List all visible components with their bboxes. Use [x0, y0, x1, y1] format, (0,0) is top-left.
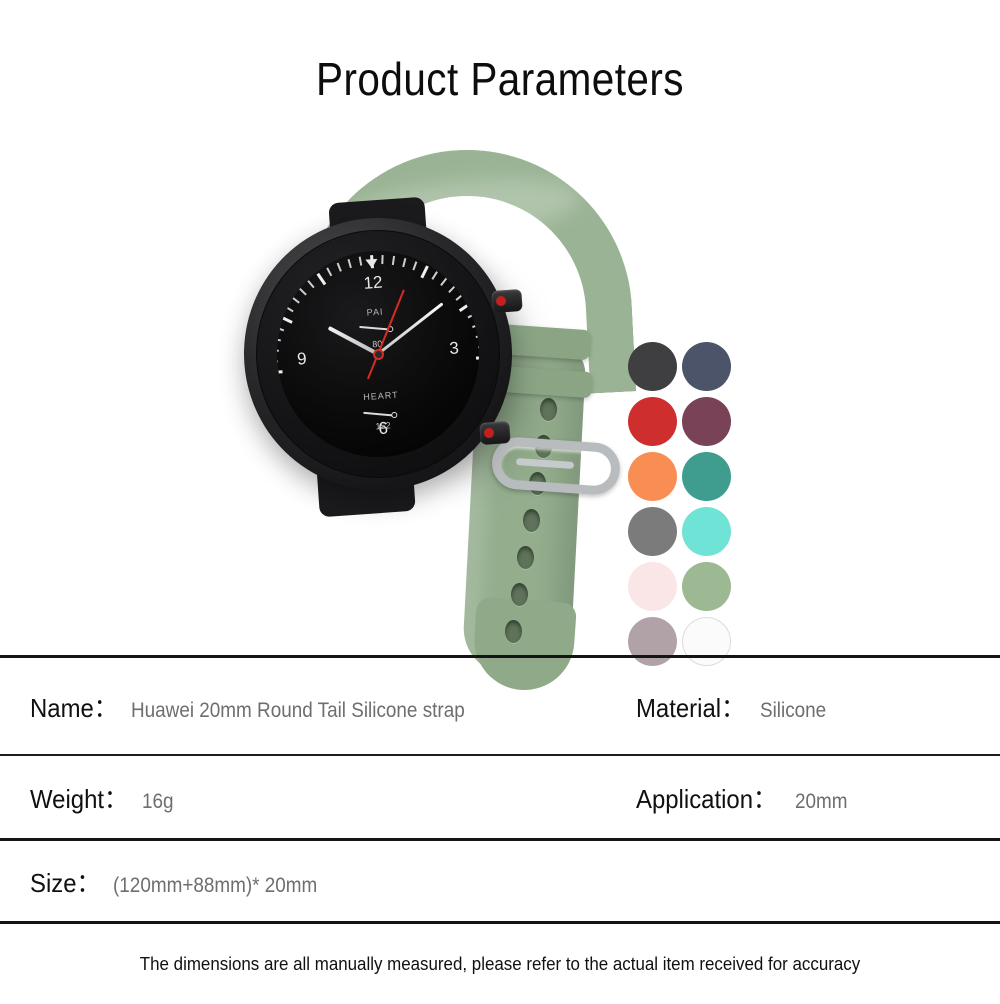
product-hero-image: 12 3 6 9 PAI 80 HEART 152	[0, 130, 1000, 650]
color-swatch-grid	[628, 342, 740, 672]
size-label: Size：	[30, 863, 100, 900]
color-swatch-gray[interactable]	[628, 507, 677, 556]
specification-table: Name：Huawei 20mm Round Tail Silicone str…	[0, 655, 1000, 1004]
name-label: Name：	[30, 688, 118, 725]
color-swatch-wine-plum[interactable]	[682, 397, 731, 446]
hour-hand	[328, 326, 379, 356]
strap-hole	[511, 583, 528, 606]
color-swatch-pale-pink[interactable]	[628, 562, 677, 611]
size-value: (120mm+88mm)* 20mm	[113, 874, 317, 898]
weight-value: 16g	[142, 790, 174, 814]
hands-center-pin	[372, 348, 384, 360]
application-label: Application：	[636, 779, 777, 816]
material-label: Material：	[636, 688, 745, 725]
cell-material: Material：Silicone	[633, 688, 1000, 725]
strap-hole	[505, 620, 522, 643]
cell-size: Size：(120mm+88mm)* 20mm	[0, 863, 633, 900]
watch-crown-accent-top	[496, 296, 506, 306]
watch-hands	[270, 244, 486, 464]
color-swatch-slate-navy[interactable]	[682, 342, 731, 391]
page-title: Product Parameters	[60, 52, 940, 106]
name-value: Huawei 20mm Round Tail Silicone strap	[131, 699, 465, 723]
color-swatch-sage-green[interactable]	[682, 562, 731, 611]
strap-hole	[523, 509, 540, 532]
cell-name: Name：Huawei 20mm Round Tail Silicone str…	[0, 688, 633, 725]
measurement-disclaimer: The dimensions are all manually measured…	[30, 924, 970, 1004]
watch-bezel: 12 3 6 9 PAI 80 HEART 152	[248, 222, 509, 486]
application-value: 20mm	[795, 790, 848, 814]
cell-weight: Weight：16g	[0, 779, 633, 816]
color-swatch-turquoise[interactable]	[682, 507, 731, 556]
material-value: Silicone	[760, 699, 826, 723]
strap-hole	[517, 546, 534, 569]
table-row-name-material: Name：Huawei 20mm Round Tail Silicone str…	[0, 658, 1000, 754]
table-row-size: Size：(120mm+88mm)* 20mm	[0, 841, 1000, 921]
color-swatch-teal[interactable]	[682, 452, 731, 501]
weight-label: Weight：	[30, 779, 128, 816]
watch-crown-accent-bottom	[484, 428, 494, 438]
cell-application: Application：20mm	[633, 779, 1000, 816]
table-row-weight-application: Weight：16g Application：20mm	[0, 756, 1000, 838]
watch-screen: 12 3 6 9 PAI 80 HEART 152	[270, 244, 486, 464]
color-swatch-red[interactable]	[628, 397, 677, 446]
strap-hole	[540, 398, 557, 421]
color-swatch-charcoal[interactable]	[628, 342, 677, 391]
color-swatch-orange[interactable]	[628, 452, 677, 501]
